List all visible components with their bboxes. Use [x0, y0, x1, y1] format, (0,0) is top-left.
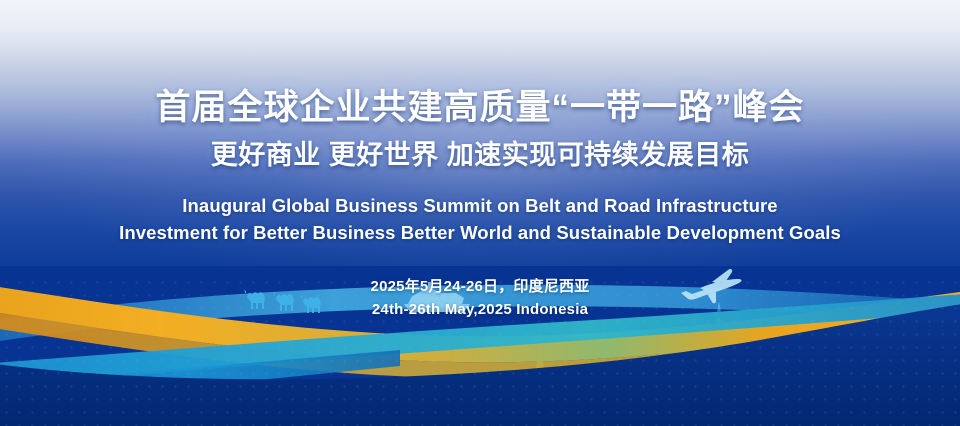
summit-title-chinese: 首届全球企业共建高质量“一带一路”峰会: [0, 0, 960, 129]
headline-glow: [30, 58, 930, 288]
summit-subtitle-chinese: 更好商业 更好世界 加速实现可持续发展目标: [0, 129, 960, 171]
summit-title-english: Inaugural Global Business Summit on Belt…: [0, 171, 960, 247]
summit-banner: 首届全球企业共建高质量“一带一路”峰会 更好商业 更好世界 加速实现可持续发展目…: [0, 0, 960, 426]
summit-title-english-line1: Inaugural Global Business Summit on Belt…: [0, 193, 960, 220]
decorative-artwork: [0, 266, 960, 426]
summit-title-english-line2: Investment for Better Business Better Wo…: [0, 220, 960, 247]
